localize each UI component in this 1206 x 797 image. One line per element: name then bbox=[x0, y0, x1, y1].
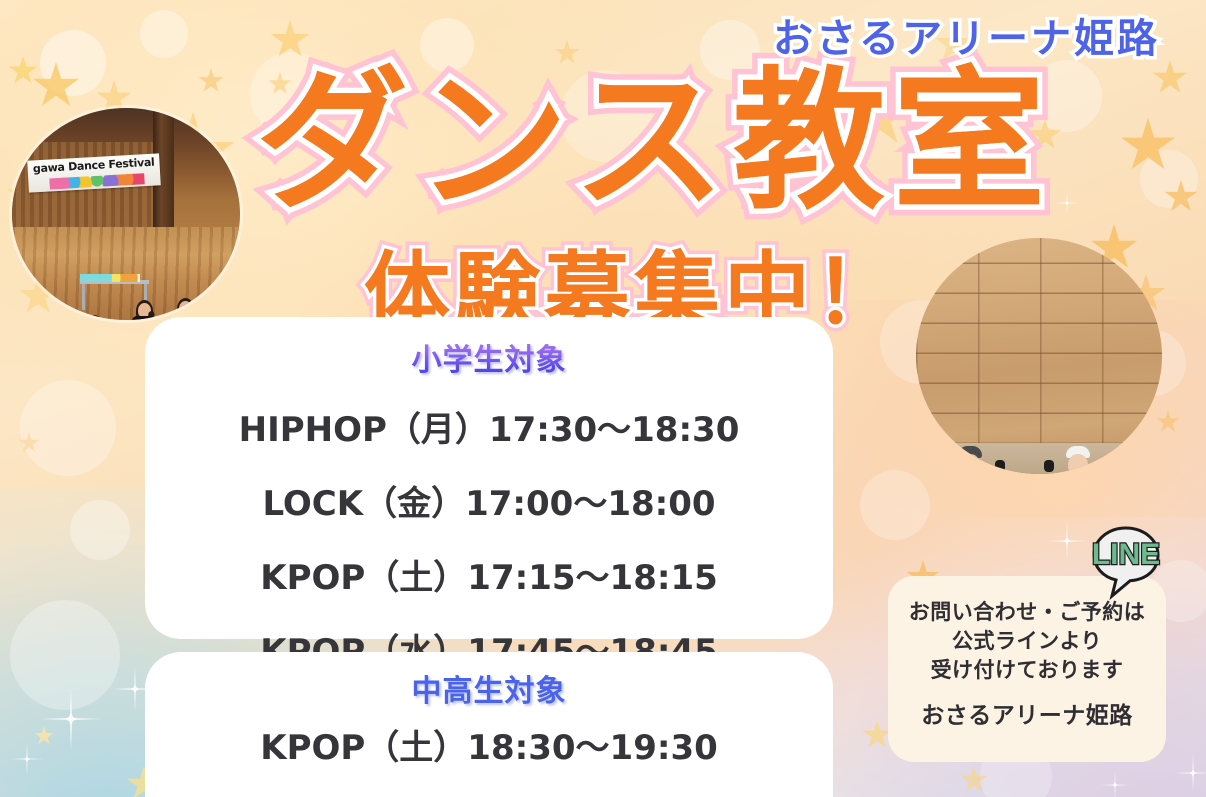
group-heading-elementary: 小学生対象 bbox=[145, 344, 833, 377]
schedule-card-highschool: 中高生対象 KPOP（土）18:30〜19:30 bbox=[145, 652, 833, 797]
main-title: ダンス教室 bbox=[256, 62, 1053, 222]
photo-left-stage: gawa Dance Festival bbox=[12, 108, 240, 320]
photo-right-brickwall: 23 bbox=[916, 238, 1162, 474]
schedule-row: KPOP（土）18:30〜19:30 bbox=[145, 720, 833, 769]
flyer-canvas: gawa Dance Festival bbox=[0, 0, 1206, 797]
line-logo-icon[interactable]: LINE bbox=[1078, 524, 1174, 604]
schedule-card-elementary: 小学生対象 HIPHOP（月）17:30〜18:30 LOCK（金）17:00〜… bbox=[145, 317, 833, 639]
schedule-row: KPOP（土）17:15〜18:15 bbox=[145, 550, 833, 599]
schedule-row: LOCK（金）17:00〜18:00 bbox=[145, 476, 833, 525]
contact-text-line: 公式ラインより bbox=[888, 627, 1166, 656]
schedule-row: HIPHOP（月）17:30〜18:30 bbox=[145, 402, 833, 451]
line-logo-label: LINE bbox=[1092, 538, 1160, 571]
org-name-footer: おさるアリーナ姫路 bbox=[888, 701, 1166, 733]
contact-text-line: 受け付けております bbox=[888, 656, 1166, 685]
group-heading-highschool: 中高生対象 bbox=[145, 675, 833, 708]
